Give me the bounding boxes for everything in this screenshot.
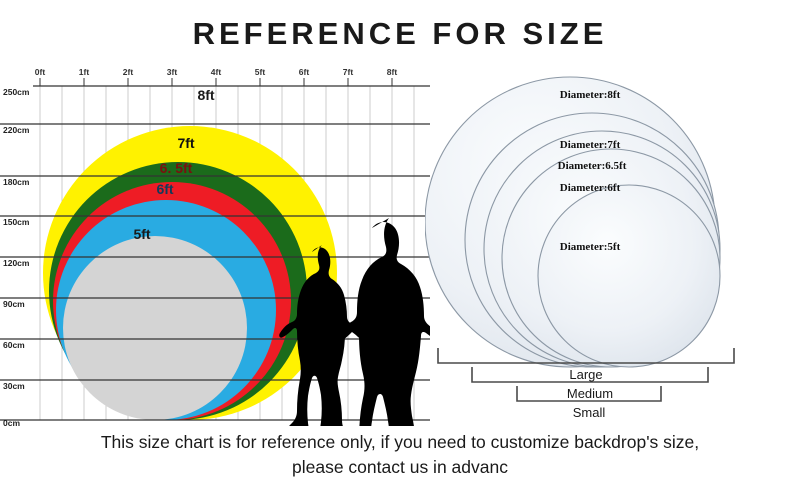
bracket-label-large: Large bbox=[569, 367, 602, 382]
backdrop-circle-5ft bbox=[63, 236, 247, 420]
diameter-circles-panel: Diameter:8ft Diameter:7ft Diameter:6.5ft… bbox=[425, 60, 800, 430]
x-tick-label: 8ft bbox=[387, 67, 398, 77]
x-tick-label: 3ft bbox=[167, 67, 178, 77]
caption-line-1: This size chart is for reference only, i… bbox=[30, 430, 770, 455]
page-title: REFERENCE FOR SIZE bbox=[0, 18, 800, 49]
x-tick-label: 6ft bbox=[299, 67, 310, 77]
y-tick-label: 180cm bbox=[3, 177, 30, 187]
backdrop-label-5ft: 5ft bbox=[133, 226, 150, 242]
bracket-label-small: Small bbox=[573, 405, 606, 420]
backdrop-label-6-5ft: 6. 5ft bbox=[160, 160, 193, 176]
diameter-disc-5ft bbox=[538, 185, 720, 367]
y-tick-label: 250cm bbox=[3, 87, 30, 97]
x-axis-ticks bbox=[40, 78, 392, 86]
backdrop-label-7ft: 7ft bbox=[177, 135, 194, 151]
bracket-label-medium: Medium bbox=[567, 386, 613, 401]
y-tick-label: 120cm bbox=[3, 258, 30, 268]
diameter-circles-svg: Diameter:8ft Diameter:7ft Diameter:6.5ft… bbox=[425, 60, 800, 430]
y-tick-label: 90cm bbox=[3, 299, 25, 309]
diameter-discs-group bbox=[425, 77, 720, 367]
footer-caption: This size chart is for reference only, i… bbox=[30, 430, 770, 481]
x-tick-label: 2ft bbox=[123, 67, 134, 77]
x-axis-tick-labels: 0ft 1ft 2ft 3ft 4ft 5ft 6ft 7ft 8ft bbox=[35, 67, 398, 77]
y-tick-label: 0cm bbox=[3, 418, 20, 426]
x-tick-label: 7ft bbox=[343, 67, 354, 77]
height-scale-svg: 0ft 1ft 2ft 3ft 4ft 5ft 6ft 7ft 8ft 250c… bbox=[0, 64, 430, 426]
backdrop-label-6ft: 6ft bbox=[156, 181, 173, 197]
y-tick-label: 30cm bbox=[3, 381, 25, 391]
diameter-label-6-5ft: Diameter:6.5ft bbox=[558, 160, 627, 172]
diameter-label-5ft: Diameter:5ft bbox=[560, 241, 621, 253]
x-tick-label: 4ft bbox=[211, 67, 222, 77]
height-scale-panel: 0ft 1ft 2ft 3ft 4ft 5ft 6ft 7ft 8ft 250c… bbox=[0, 64, 430, 426]
diameter-label-7ft: Diameter:7ft bbox=[560, 139, 621, 151]
x-tick-label: 0ft bbox=[35, 67, 46, 77]
x-tick-label: 1ft bbox=[79, 67, 90, 77]
caption-line-2: please contact us in advanc bbox=[30, 455, 770, 480]
backdrop-label-8ft: 8ft bbox=[197, 87, 214, 103]
size-bracket-labels: Large Medium Small bbox=[567, 367, 613, 420]
diameter-label-6ft: Diameter:6ft bbox=[560, 182, 621, 194]
woman-silhouette bbox=[335, 218, 430, 426]
diameter-label-8ft: Diameter:8ft bbox=[560, 89, 621, 101]
y-tick-label: 150cm bbox=[3, 217, 30, 227]
y-tick-label: 60cm bbox=[3, 340, 25, 350]
y-tick-label: 220cm bbox=[3, 125, 30, 135]
size-reference-chart: REFERENCE FOR SIZE bbox=[0, 0, 800, 488]
x-tick-label: 5ft bbox=[255, 67, 266, 77]
